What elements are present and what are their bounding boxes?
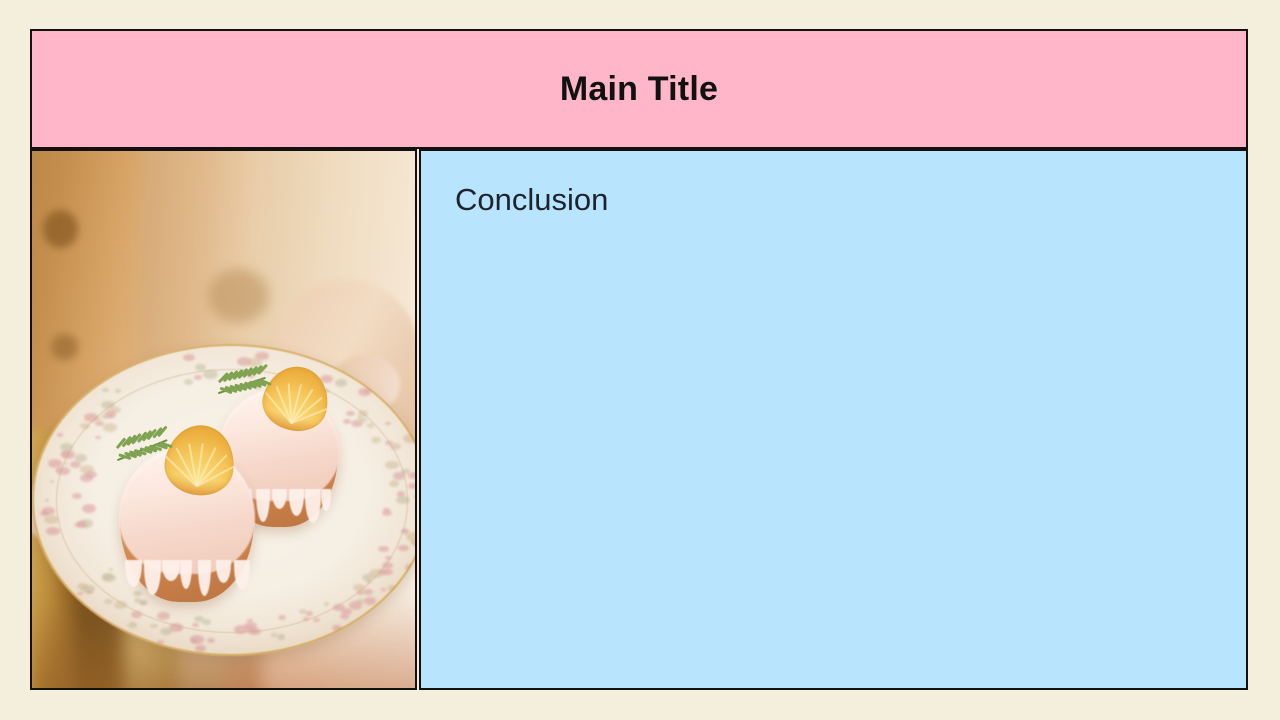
- image-panel: [30, 149, 417, 690]
- photo-texture-knot-c: [208, 269, 269, 323]
- content-panel: Conclusion: [419, 149, 1248, 690]
- photo-texture-knot-a: [43, 210, 77, 248]
- title-bar: Main Title: [30, 29, 1248, 149]
- page-title: Main Title: [560, 72, 718, 106]
- photo-glazed-donuts: [32, 151, 415, 688]
- photo-texture-knot-b: [51, 334, 78, 361]
- content-body-text: Conclusion: [455, 181, 608, 220]
- slide-root: Main Title: [0, 0, 1280, 720]
